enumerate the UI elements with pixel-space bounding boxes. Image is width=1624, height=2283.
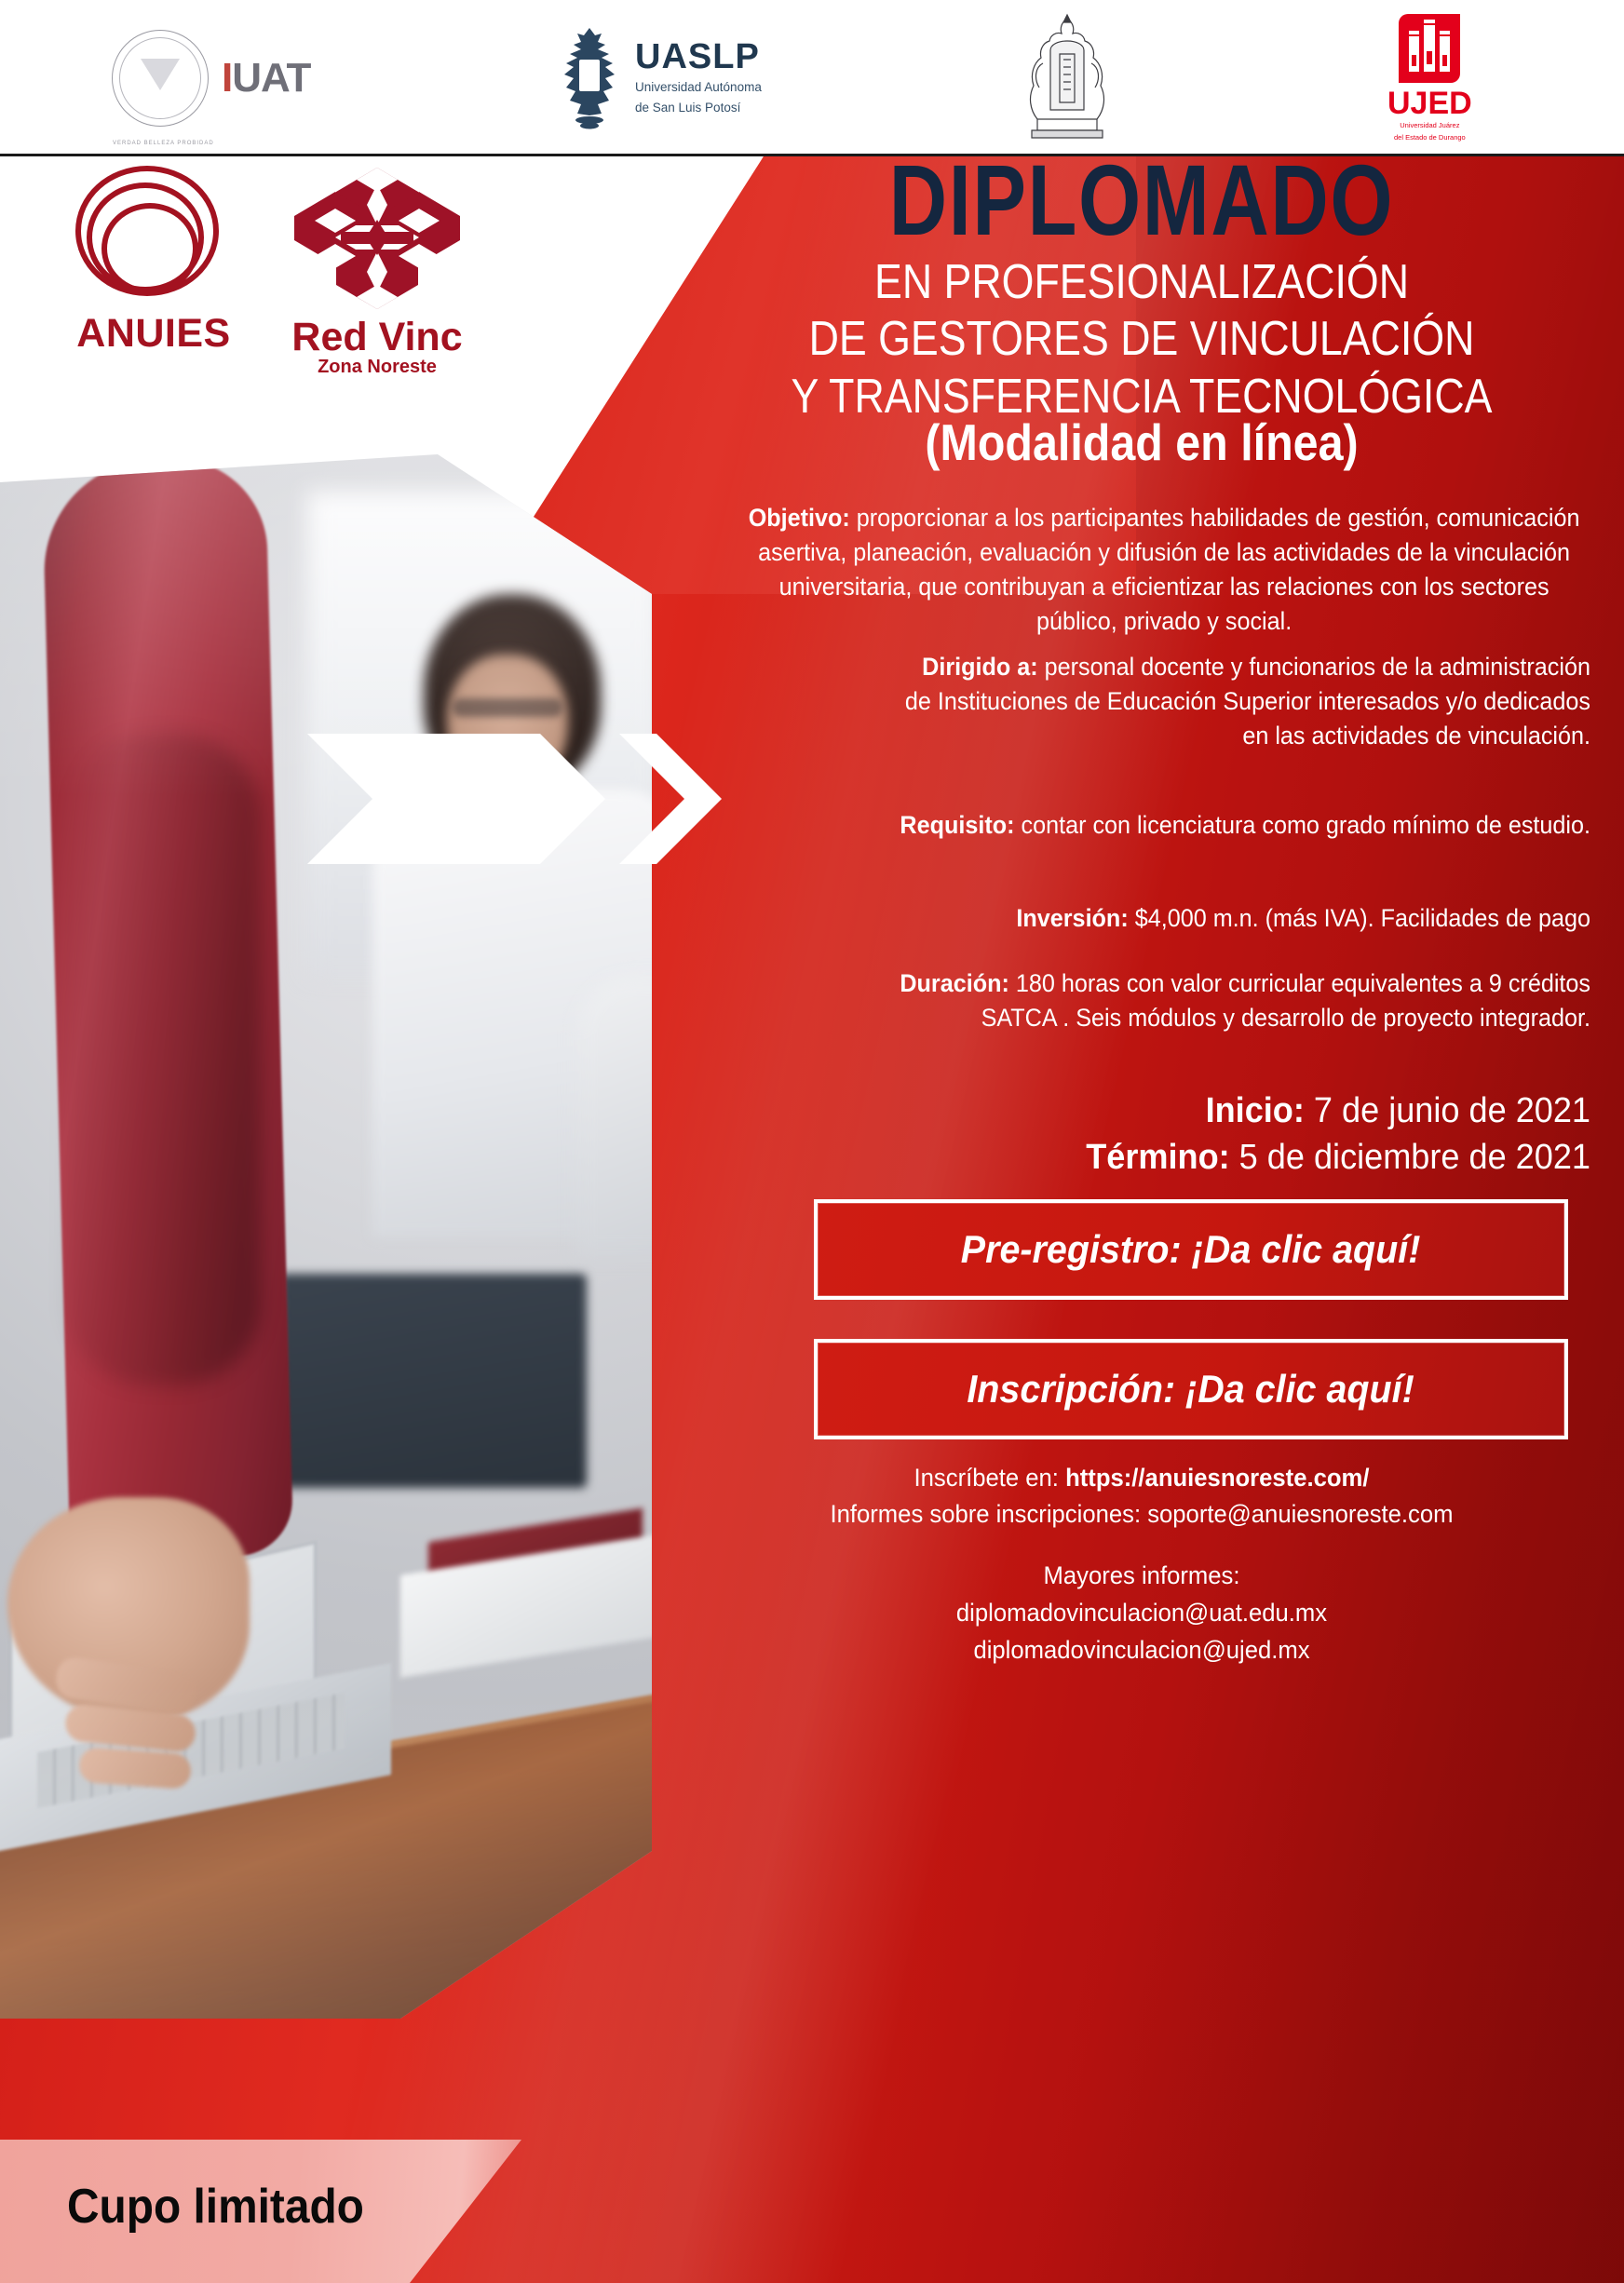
inscripcion-button[interactable]: Inscripción: ¡Da clic aquí!	[814, 1339, 1568, 1439]
ujed-wordmark: UJED	[1387, 88, 1472, 119]
termino-value: 5 de diciembre de 2021	[1230, 1138, 1590, 1177]
contact-email-uat[interactable]: diplomadovinculacion@uat.edu.mx	[715, 1595, 1568, 1632]
dirigido-label: Dirigido a:	[922, 653, 1037, 681]
cupo-limitado-label: Cupo limitado	[67, 2179, 364, 2235]
uaslp-text-block: UASLP Universidad Autónoma de San Luis P…	[635, 39, 762, 117]
classroom-photo	[0, 454, 652, 2019]
more-info-block: Mayores informes: diplomadovinculacion@u…	[715, 1558, 1568, 1669]
section-requisito: Requisito: contar con licenciatura como …	[897, 808, 1590, 843]
uaslp-line2: de San Luis Potosí	[635, 99, 762, 117]
registration-links: Inscríbete en: https://anuiesnoreste.com…	[715, 1460, 1568, 1533]
course-dates: Inicio: 7 de junio de 2021 Término: 5 de…	[844, 1087, 1590, 1181]
content-column: DIPLOMADO EN PROFESIONALIZACIÓN DE GESTO…	[693, 156, 1624, 2283]
organizer-logos: ANUIES	[37, 166, 521, 408]
chevron-large-icon	[307, 734, 605, 864]
duracion-text: 180 horas con valor curricular equivalen…	[981, 969, 1590, 1032]
preregistro-label: Pre-registro: ¡Da clic aquí!	[961, 1227, 1421, 1272]
page-subtitle: EN PROFESIONALIZACIÓN DE GESTORES DE VIN…	[755, 254, 1527, 426]
photo-haze-overlay	[0, 454, 652, 2019]
logo-ujed: UJED Universidad Juárez del Estado de Du…	[1387, 0, 1472, 156]
inicio-value: 7 de junio de 2021	[1305, 1091, 1590, 1130]
red-vinc-subtitle: Zona Noreste	[237, 357, 517, 378]
requisito-label: Requisito:	[900, 811, 1014, 839]
poster-root: VERDAD BELLEZA PROBIDAD IUAT	[0, 0, 1624, 2283]
preregistro-button[interactable]: Pre-registro: ¡Da clic aquí!	[814, 1199, 1568, 1300]
red-vinc-hexagon-icon	[294, 164, 460, 313]
uaslp-wordmark: UASLP	[635, 39, 762, 76]
logo-eagle-crest	[1006, 0, 1129, 156]
inicio-label: Inicio:	[1206, 1091, 1305, 1130]
logo-anuies: ANUIES	[61, 166, 247, 357]
inversion-label: Inversión:	[1016, 904, 1128, 932]
red-vinc-wordmark: Red Vinc	[237, 315, 517, 360]
date-inicio: Inicio: 7 de junio de 2021	[844, 1087, 1590, 1134]
informes-inscripciones: Informes sobre inscripciones: soporte@an…	[715, 1496, 1568, 1533]
ujed-line2: del Estado de Durango	[1394, 133, 1466, 143]
inversion-text: $4,000 m.n. (más IVA). Facilidades de pa…	[1129, 904, 1590, 932]
inscribete-url[interactable]: https://anuiesnoreste.com/	[1065, 1464, 1369, 1492]
partner-logo-bar: VERDAD BELLEZA PROBIDAD IUAT	[0, 0, 1624, 156]
ujed-castle-icon	[1399, 14, 1460, 83]
subtitle-line-1: EN PROFESIONALIZACIÓN	[755, 254, 1527, 311]
eagle-crest-icon	[1006, 13, 1129, 143]
section-dirigido: Dirigido a: personal docente y funcionar…	[897, 650, 1590, 753]
anuies-wordmark: ANUIES	[61, 311, 247, 357]
uat-seal-icon: VERDAD BELLEZA PROBIDAD	[112, 30, 209, 127]
logo-uat: VERDAD BELLEZA PROBIDAD IUAT	[112, 0, 310, 156]
objetivo-label: Objetivo:	[749, 504, 850, 532]
uat-wordmark: IUAT	[222, 58, 310, 99]
inscribete-label: Inscríbete en:	[914, 1464, 1066, 1492]
logo-red-vinc: Red Vinc Zona Noreste	[237, 164, 517, 378]
contact-email-ujed[interactable]: diplomadovinculacion@ujed.mx	[715, 1632, 1568, 1669]
poster-body: ANUIES	[0, 156, 1624, 2283]
section-inversion: Inversión: $4,000 m.n. (más IVA). Facili…	[844, 901, 1590, 936]
objetivo-text: proporcionar a los participantes habilid…	[758, 504, 1579, 635]
uat-seal-caption: VERDAD BELLEZA PROBIDAD	[113, 141, 208, 146]
page-title: DIPLOMADO	[782, 156, 1500, 252]
inscripcion-label: Inscripción: ¡Da clic aquí!	[968, 1367, 1414, 1412]
mayores-informes-label: Mayores informes:	[715, 1558, 1568, 1595]
section-duracion: Duración: 180 horas con valor curricular…	[871, 966, 1590, 1035]
anuies-rings-icon	[75, 166, 232, 307]
inscribete-row: Inscríbete en: https://anuiesnoreste.com…	[715, 1460, 1568, 1496]
ujed-line1: Universidad Juárez	[1400, 121, 1459, 131]
uaslp-crest-icon	[559, 26, 620, 130]
subtitle-line-2: DE GESTORES DE VINCULACIÓN	[755, 311, 1527, 368]
duracion-label: Duración:	[900, 969, 1009, 997]
logo-uaslp: UASLP Universidad Autónoma de San Luis P…	[559, 0, 762, 156]
uaslp-line1: Universidad Autónoma	[635, 78, 762, 97]
modality-label: (Modalidad en línea)	[747, 412, 1536, 472]
requisito-text: contar con licenciatura como grado mínim…	[1014, 811, 1590, 839]
date-termino: Término: 5 de diciembre de 2021	[844, 1134, 1590, 1181]
termino-label: Término:	[1086, 1138, 1229, 1177]
section-objetivo: Objetivo: proporcionar a los participant…	[738, 501, 1590, 639]
